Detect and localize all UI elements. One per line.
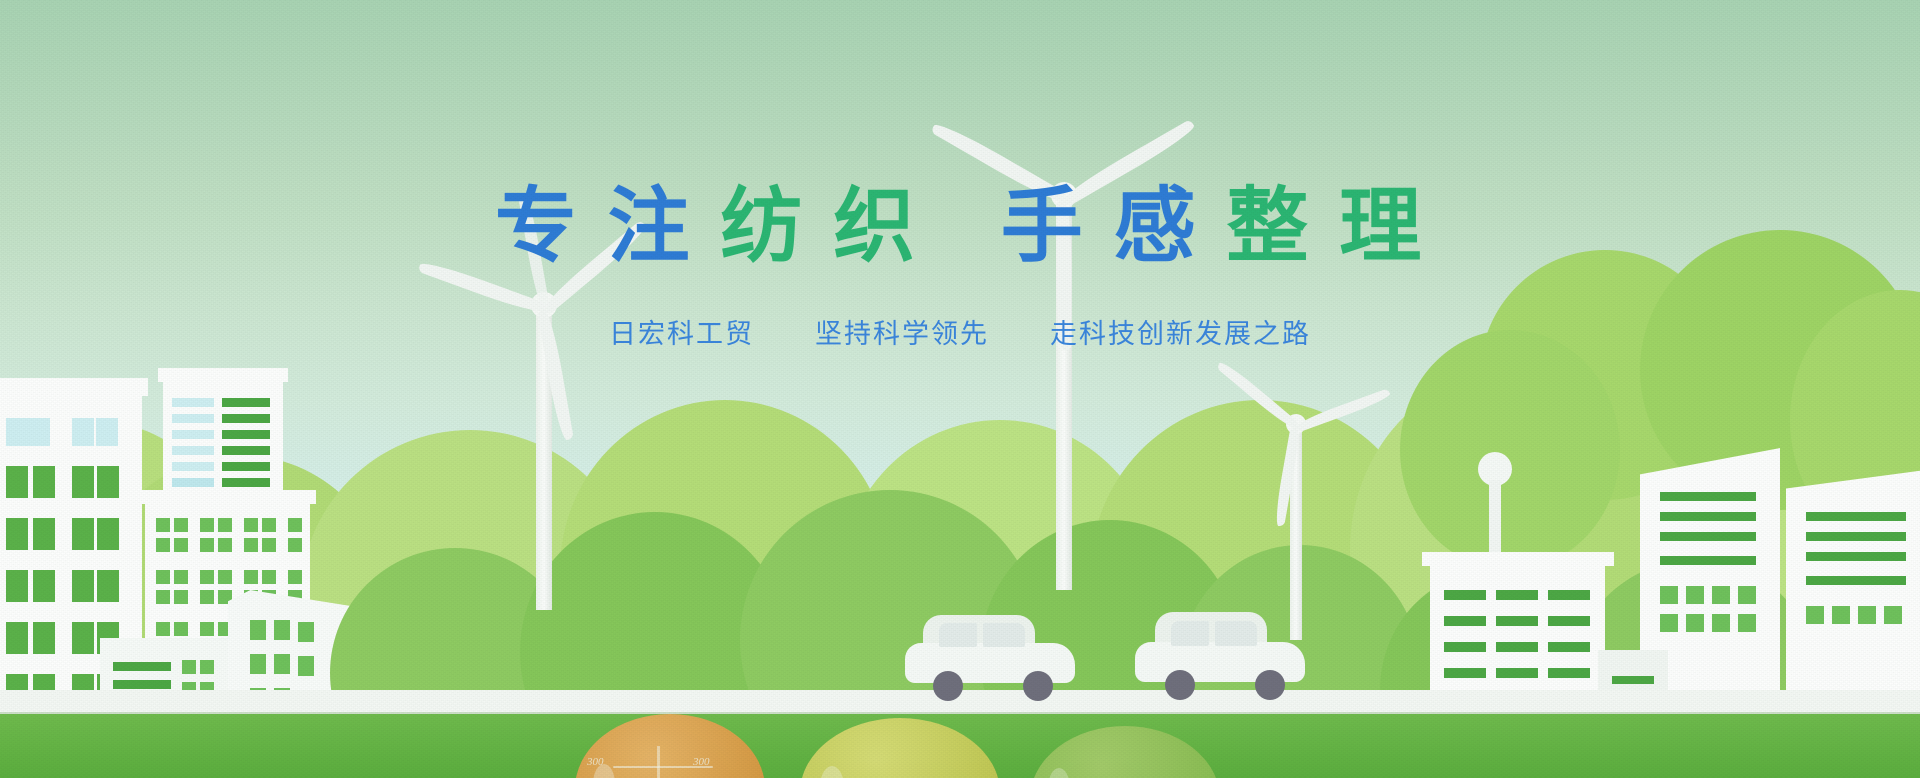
- beaker-graduation-label: 300: [693, 756, 710, 768]
- page-title: 专 注 纺 织 手 感 整 理: [0, 186, 1920, 268]
- car-right: [1135, 612, 1305, 692]
- headline-char: 纺: [720, 186, 806, 268]
- headline-char: 感: [1114, 186, 1200, 268]
- page-subtitle: 日宏科工贸 坚持科学领先 走科技创新发展之路: [0, 312, 1920, 351]
- subtitle-segment: 日宏科工贸: [609, 312, 754, 351]
- subtitle-segment: 坚持科学领先: [815, 312, 989, 351]
- headline-char: 理: [1339, 186, 1425, 268]
- car-left: [905, 615, 1075, 693]
- banner-hero: 300 300 300 300 300 300 300 专 注 纺 织 手 感 …: [0, 0, 1920, 778]
- headline-char: 手: [1001, 186, 1087, 268]
- headline-char: 专: [495, 186, 581, 268]
- headline-char: 注: [608, 186, 694, 268]
- subtitle-segment: 走科技创新发展之路: [1050, 312, 1311, 351]
- headline-char: 织: [833, 186, 919, 268]
- headline-char: 整: [1226, 186, 1312, 268]
